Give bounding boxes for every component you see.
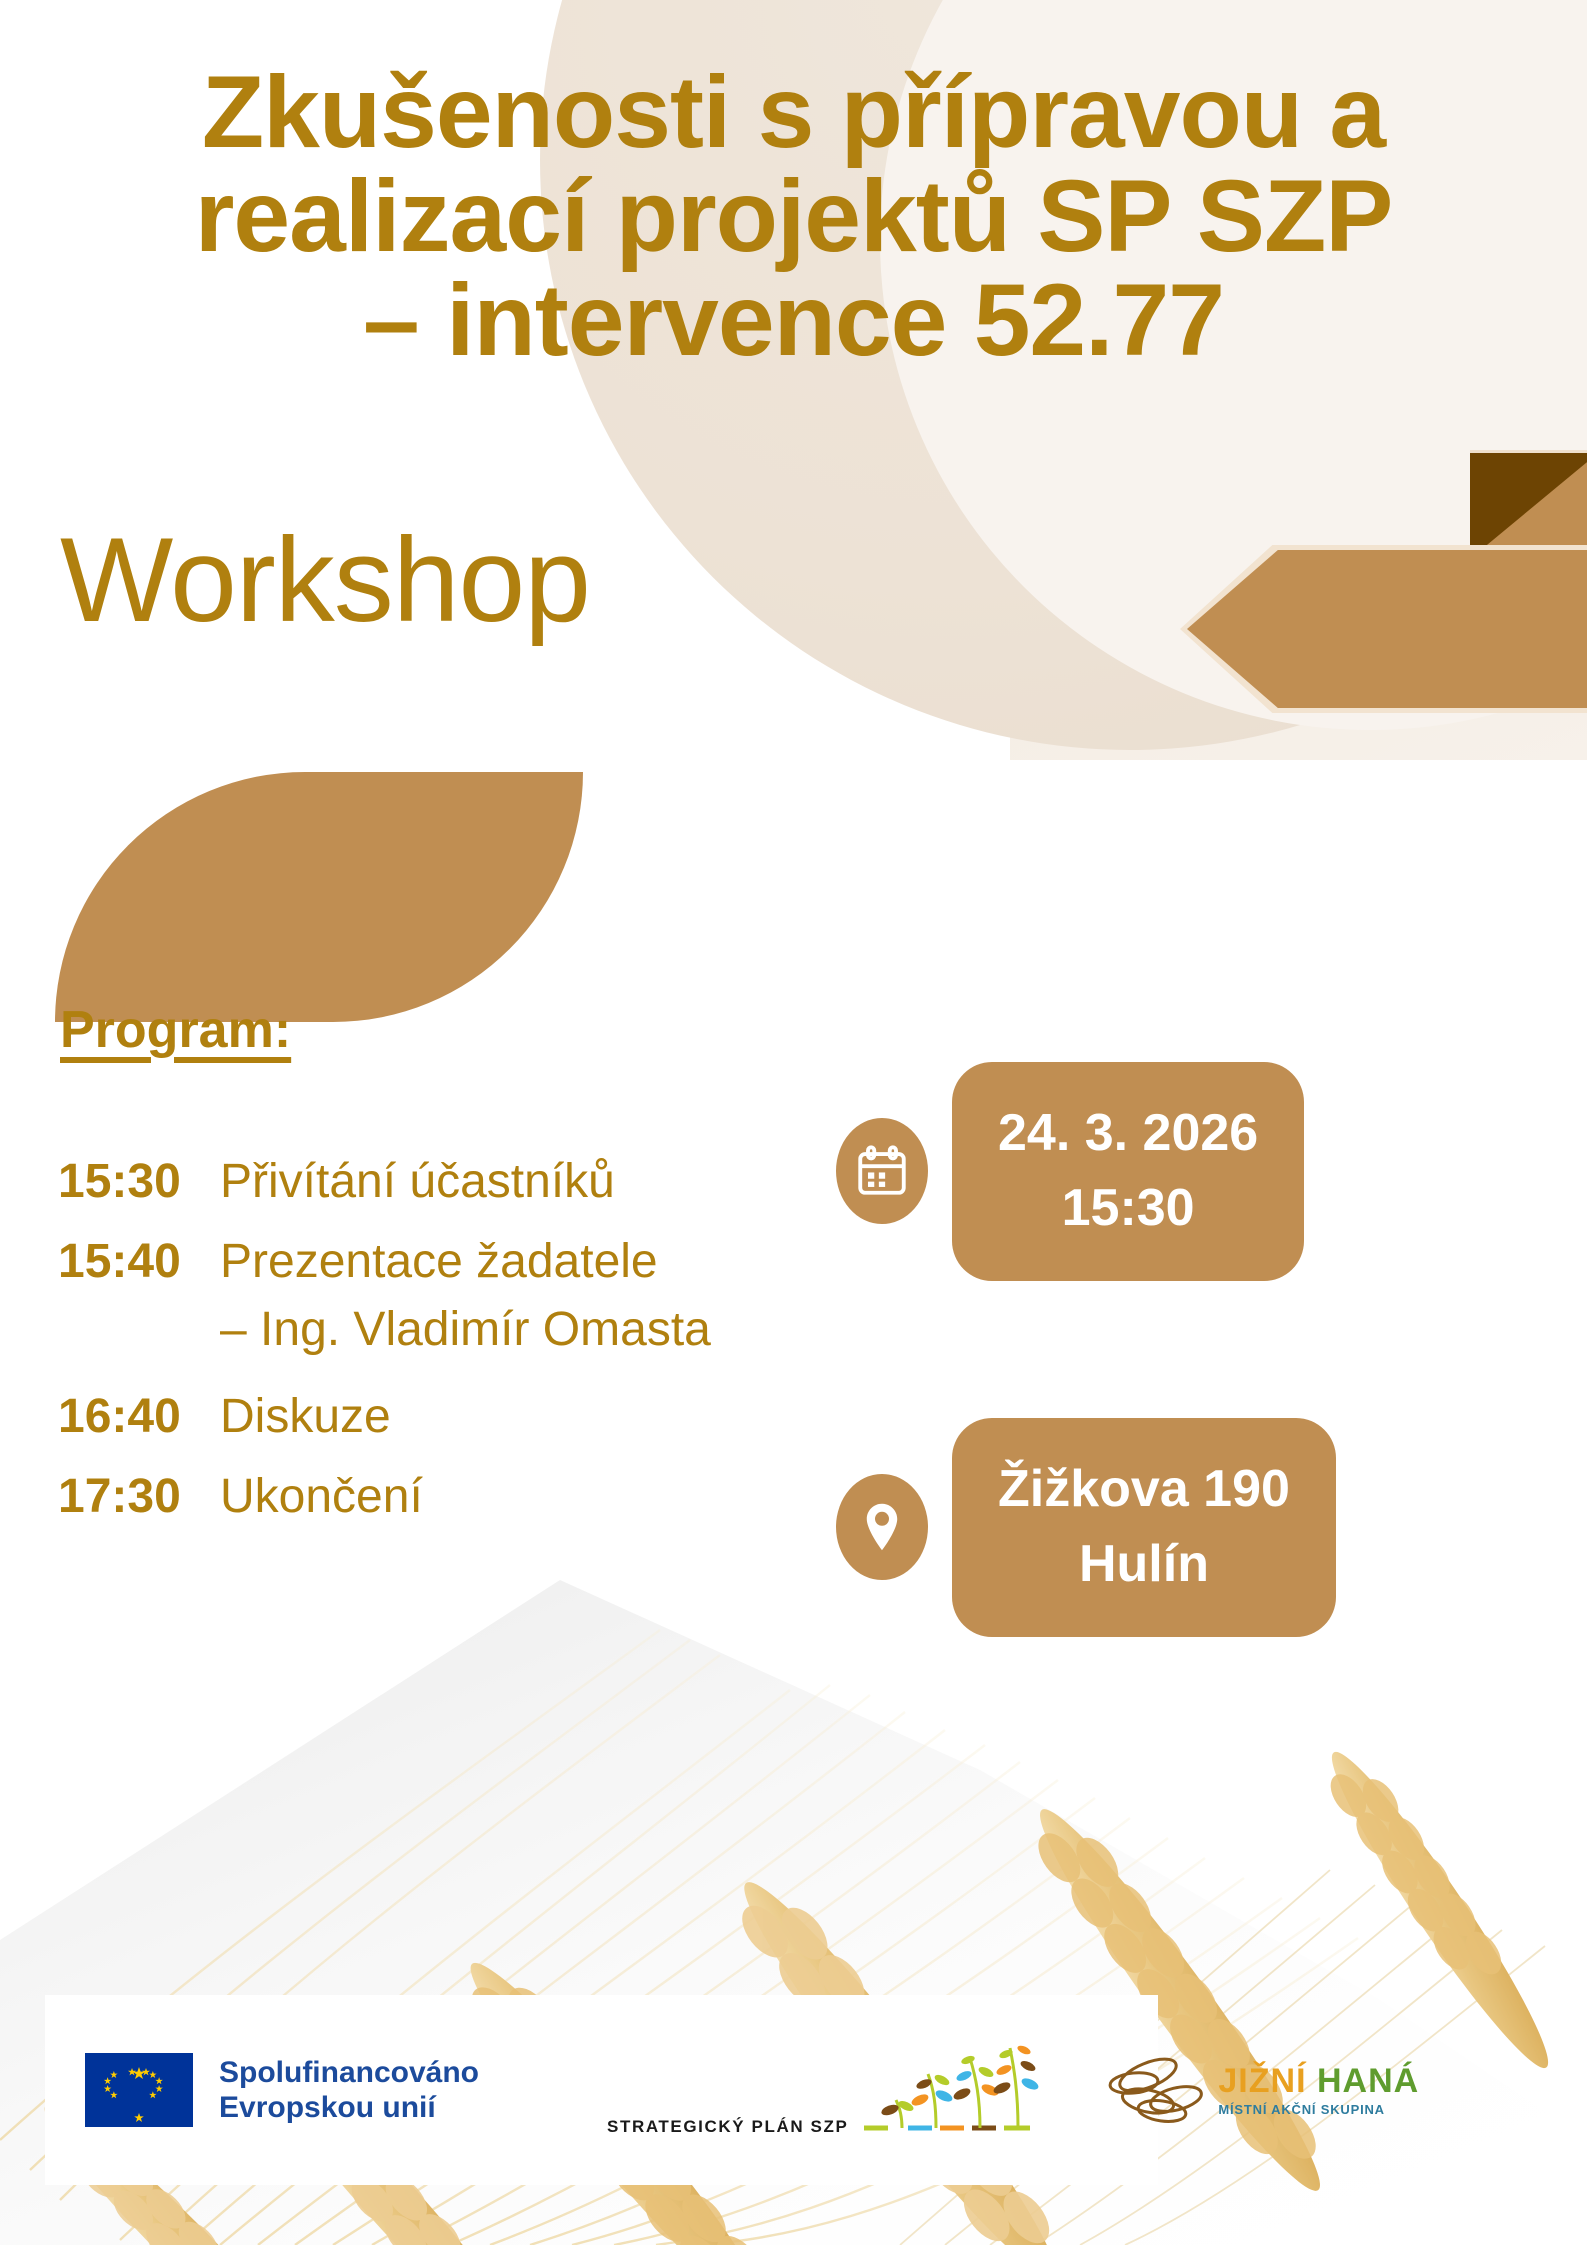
place-badge: Žižkova 190 Hulín — [952, 1418, 1336, 1637]
szp-plan-logo: STRATEGICKÝ PLÁN SZP — [607, 2040, 1042, 2141]
eu-logo-text-line-2: Evropskou unií — [219, 2090, 479, 2125]
program-list: 15:30 Přivítání účastníků 15:40 Prezenta… — [58, 1155, 918, 1550]
page-title: Zkušenosti s přípravou a realizací proje… — [0, 60, 1587, 372]
leaves-icon — [1104, 2049, 1212, 2132]
program-item-text: Diskuze — [220, 1390, 391, 1444]
mas-logo-name-part2: HANÁ — [1317, 2062, 1419, 2100]
program-item-time: 15:30 — [58, 1155, 206, 1209]
date-badge-row: 24. 3. 2026 15:30 — [836, 1062, 1304, 1281]
eu-logo-text-line-1: Spolufinancováno — [219, 2055, 479, 2090]
program-item-time: 15:40 — [58, 1235, 206, 1289]
program-item: 15:30 Přivítání účastníků — [58, 1155, 918, 1209]
mas-logo-text: JIŽNÍ HANÁ MÍSTNÍ AKČNÍ SKUPINA — [1218, 2064, 1419, 2117]
eu-logo-text: Spolufinancováno Evropskou unií — [219, 2055, 479, 2126]
place-badge-row: Žižkova 190 Hulín — [836, 1418, 1336, 1637]
date-badge-time: 15:30 — [998, 1171, 1258, 1246]
ribbon-tail — [1470, 450, 1587, 561]
program-item-speaker: – Ing. Vladimír Omasta — [220, 1303, 711, 1357]
page-title-line-3: – intervence 52.77 — [45, 268, 1542, 372]
mas-jizni-hana-logo: JIŽNÍ HANÁ MÍSTNÍ AKČNÍ SKUPINA — [1104, 2049, 1419, 2132]
leaf-shape — [55, 772, 583, 1022]
ribbon-banner-shape — [1180, 440, 1587, 710]
calendar-icon — [836, 1118, 928, 1224]
program-item: 17:30 Ukončení — [58, 1470, 918, 1524]
poster-canvas: Zkušenosti s přípravou a realizací proje… — [0, 0, 1587, 2245]
program-heading: Program: — [60, 1000, 291, 1060]
szp-logo-label: STRATEGICKÝ PLÁN SZP — [607, 2117, 848, 2137]
page-title-line-1: Zkušenosti s přípravou a — [45, 60, 1542, 164]
mas-logo-name-part1: JIŽNÍ — [1218, 2062, 1306, 2100]
program-item-text: Prezentace žadatele — [220, 1235, 658, 1289]
date-badge: 24. 3. 2026 15:30 — [952, 1062, 1304, 1281]
footer-logos: Spolufinancováno Evropskou unií STRATEGI… — [45, 1995, 1587, 2185]
program-item: 15:40 Prezentace žadatele — [58, 1235, 918, 1289]
page-title-line-2: realizací projektů SP SZP — [45, 164, 1542, 268]
program-item-sub: – Ing. Vladimír Omasta — [58, 1303, 918, 1357]
place-badge-city: Hulín — [998, 1527, 1290, 1602]
place-badge-street: Žižkova 190 — [998, 1452, 1290, 1527]
program-item-time: 17:30 — [58, 1470, 206, 1524]
mas-logo-name: JIŽNÍ HANÁ — [1218, 2064, 1419, 2098]
page-subtitle: Workshop — [60, 520, 590, 640]
program-item: 16:40 Diskuze — [58, 1390, 918, 1444]
map-pin-icon — [836, 1474, 928, 1580]
sprouts-icon — [862, 2040, 1042, 2141]
mas-logo-subtitle: MÍSTNÍ AKČNÍ SKUPINA — [1218, 2102, 1419, 2117]
eu-cofunding-logo: Spolufinancováno Evropskou unií — [85, 2053, 479, 2127]
program-item-text: Přivítání účastníků — [220, 1155, 615, 1209]
program-item-text: Ukončení — [220, 1470, 423, 1524]
date-badge-date: 24. 3. 2026 — [998, 1096, 1258, 1171]
program-item-time: 16:40 — [58, 1390, 206, 1444]
eu-flag-icon — [85, 2053, 193, 2127]
